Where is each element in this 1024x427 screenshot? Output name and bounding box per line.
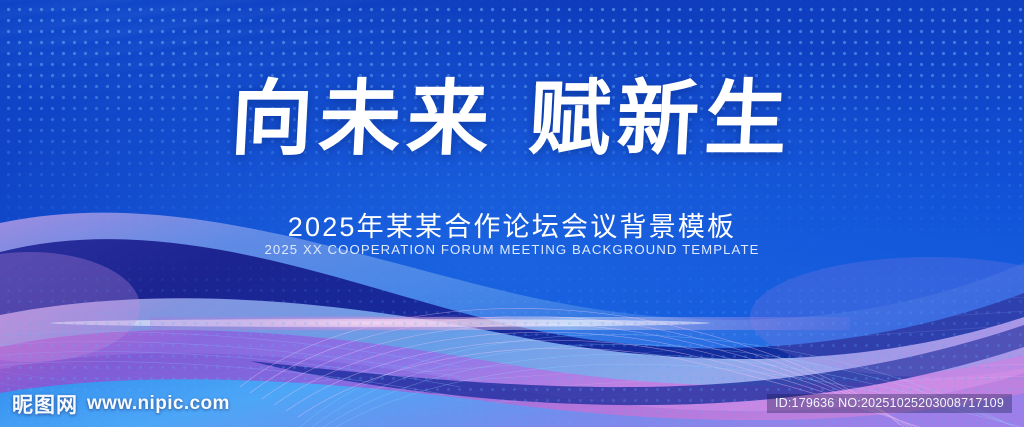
id-badge: ID:179636 NO:20251025203008717109 (767, 394, 1012, 413)
watermark: 昵图网 www.nipic.com (12, 389, 230, 419)
headline-container: 向未来赋新生 (0, 78, 1024, 160)
poster-headline: 向未来赋新生 (229, 78, 795, 160)
nipic-url-text: www.nipic.com (87, 393, 230, 415)
poster-canvas: 向未来赋新生 2025年某某合作论坛会议背景模板 2025 XX COOPERA… (0, 0, 1024, 427)
subtitle-english: 2025 XX COOPERATION FORUM MEETING BACKGR… (0, 242, 1024, 257)
headline-part2: 赋新生 (526, 71, 795, 167)
nipic-logo-text: 昵图网 (12, 389, 78, 419)
headline-part1: 向未来 (228, 71, 497, 167)
subtitle-chinese: 2025年某某合作论坛会议背景模板 (0, 205, 1024, 244)
